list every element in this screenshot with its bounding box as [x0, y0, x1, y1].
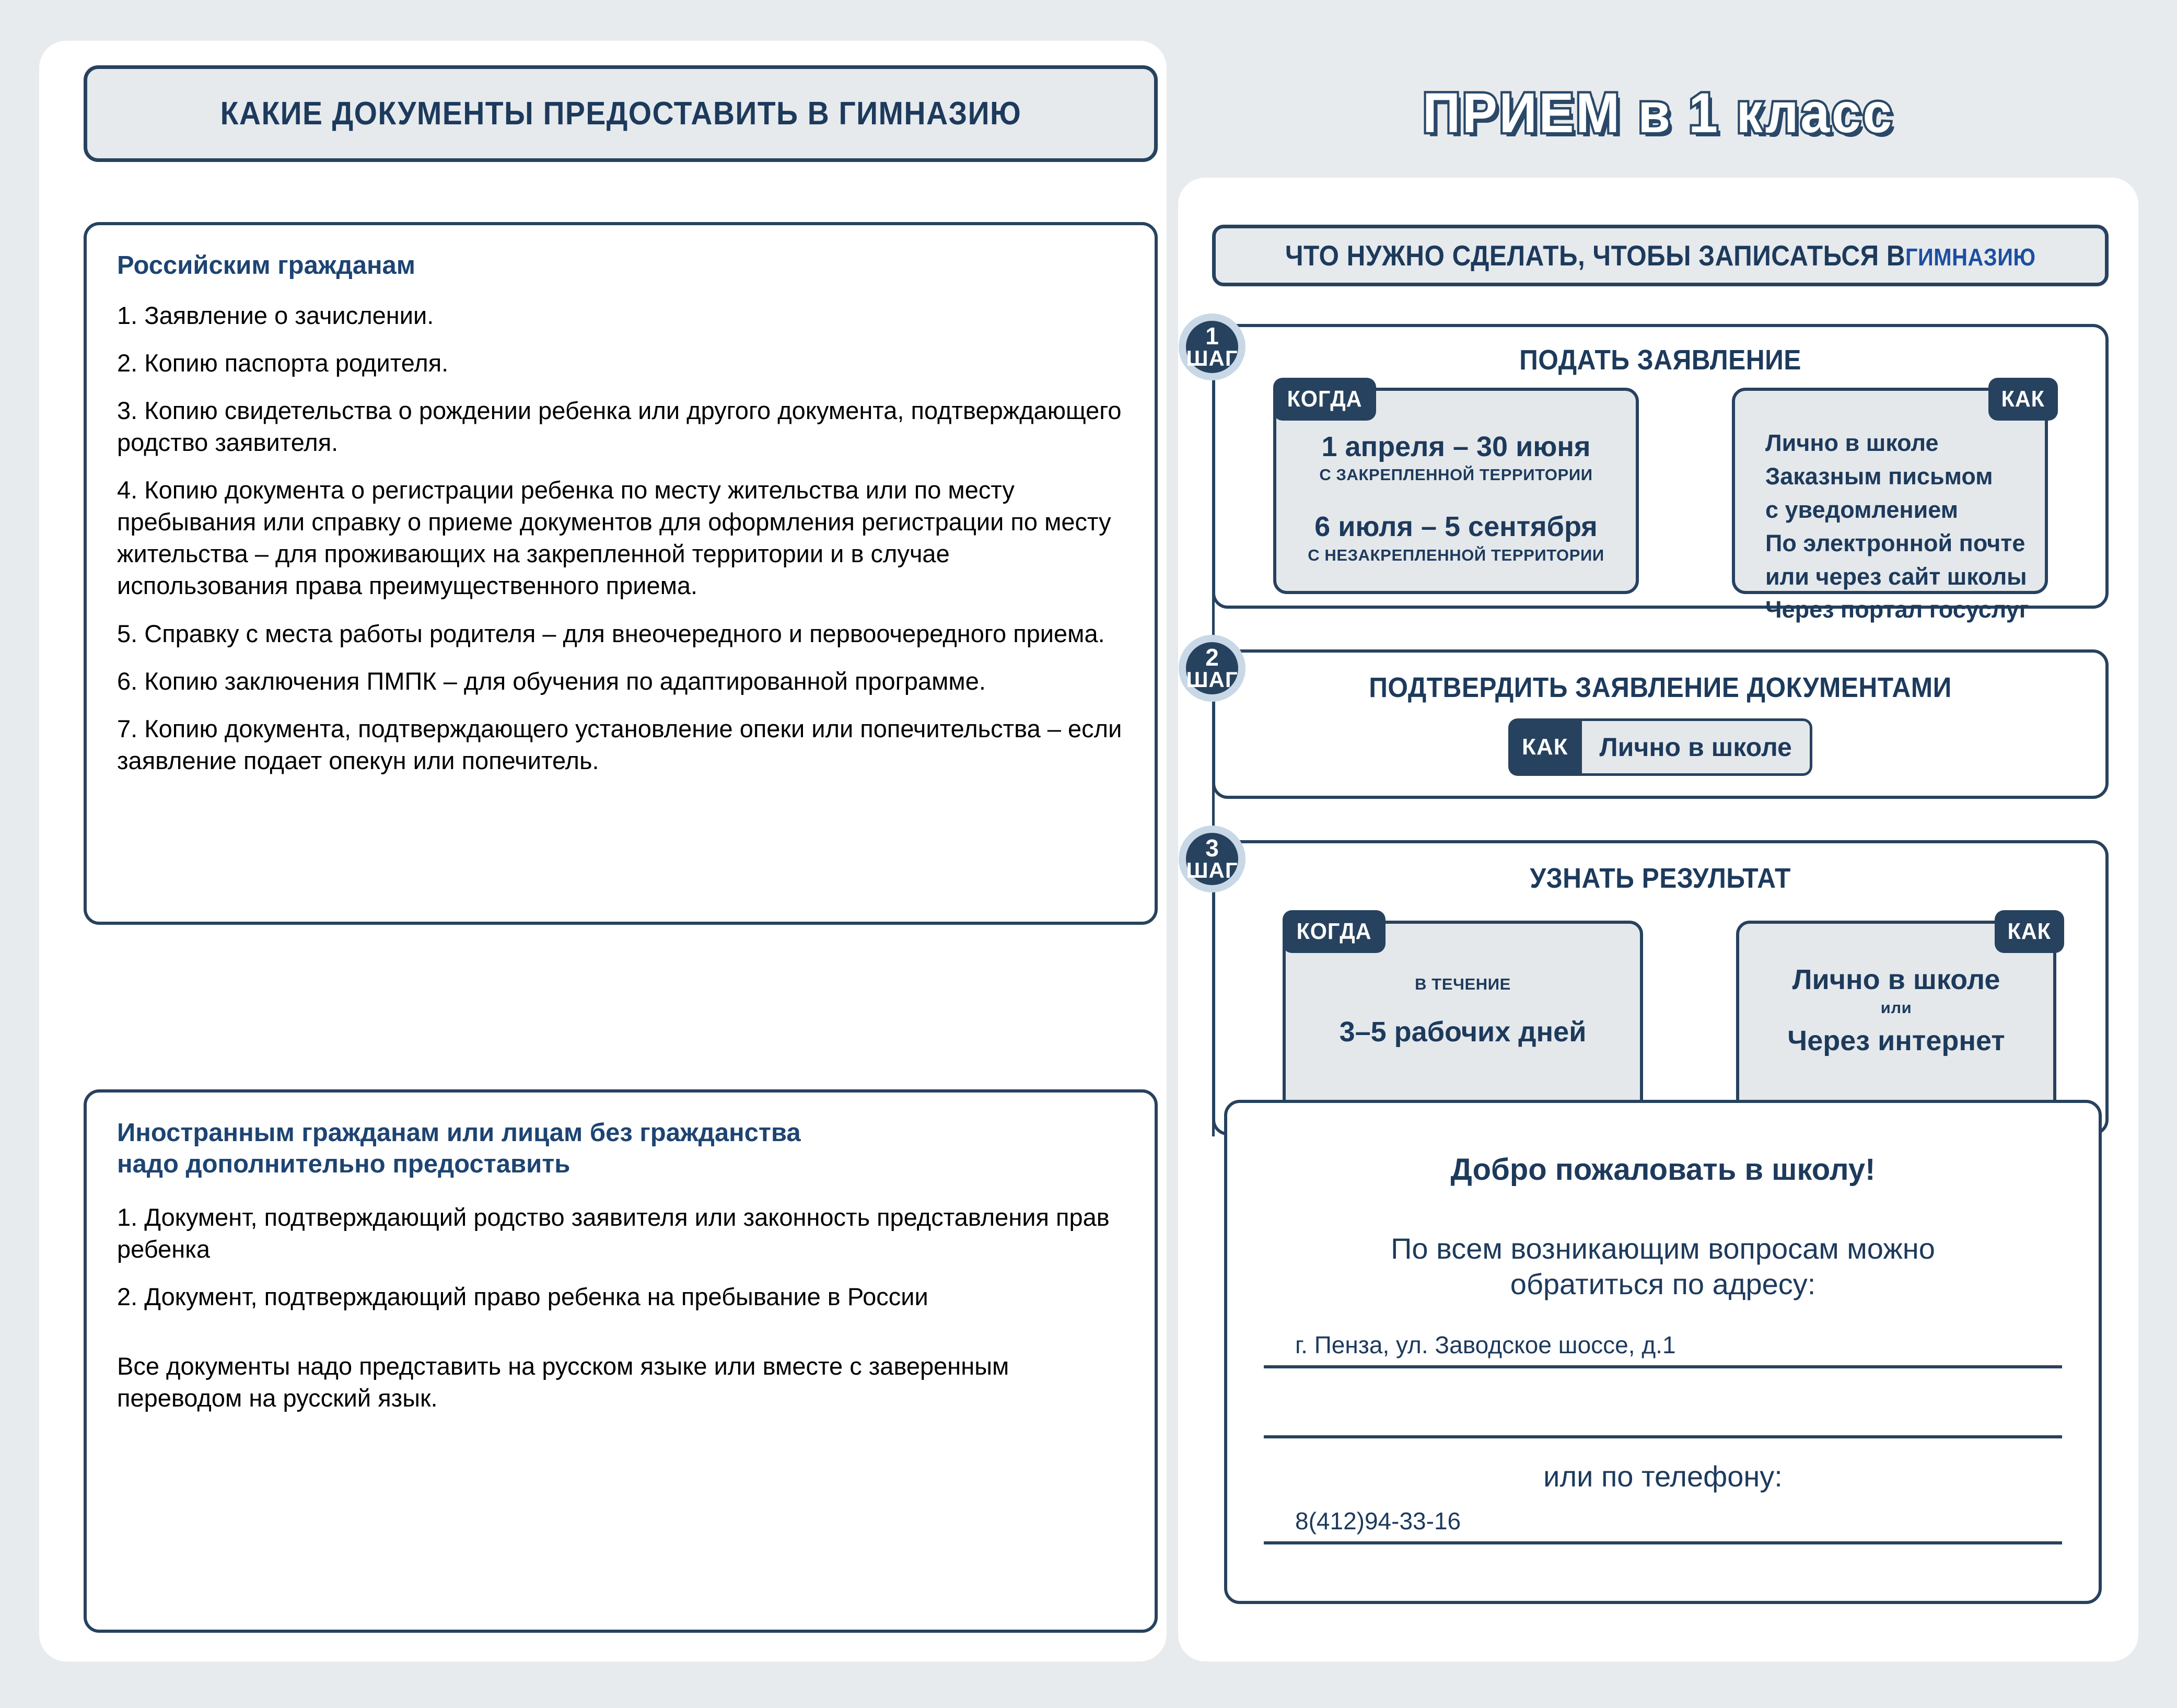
foreign-heading: Иностранным гражданам или лицам без граж…: [117, 1118, 1124, 1180]
foreign-heading-line2: надо дополнительно предоставить: [117, 1149, 1124, 1180]
step-1-how-line-4: По электронной почте: [1765, 527, 2045, 560]
contact-question: По всем возникающим вопросам можно обрат…: [1264, 1231, 2062, 1303]
step-3-word: ШАГ: [1186, 860, 1238, 881]
russian-item-4: 4. Копию документа о регистрации ребенка…: [117, 474, 1124, 601]
step-1-how-line-2: Заказным письмом: [1765, 460, 2045, 493]
contact-address-line2[interactable]: [1264, 1401, 2062, 1432]
foreign-heading-line1: Иностранным гражданам или лицам без граж…: [117, 1118, 1124, 1149]
step-1-title: ПОДАТЬ ЗАЯВЛЕНИЕ: [1251, 344, 2070, 376]
step-1-when-label-1: С ЗАКРЕПЛЕННОЙ ТЕРРИТОРИИ: [1276, 466, 1636, 484]
contact-or-phone: или по телефону:: [1264, 1459, 2062, 1493]
step-3-when-tab-label: КОГДА: [1297, 919, 1372, 945]
step-3-title: УЗНАТЬ РЕЗУЛЬТАТ: [1251, 862, 2070, 894]
step-1-how-tab-label: КАК: [2001, 386, 2045, 412]
documents-russian-card: Российским гражданам 1. Заявление о зачи…: [84, 222, 1158, 925]
step-1-when-tab-label: КОГДА: [1287, 386, 1363, 412]
todo-banner-main: ЧТО НУЖНО СДЕЛАТЬ, ЧТОБЫ ЗАПИСАТЬСЯ В: [1285, 239, 1905, 272]
russian-item-3: 3. Копию свидетельства о рождении ребенк…: [117, 394, 1124, 458]
step-1-how-tab: КАК: [1988, 378, 2058, 421]
step-3-badge: 3 ШАГ: [1179, 826, 1245, 892]
step-2-how-value-box: Лично в школе: [1582, 718, 1812, 776]
step-2-number: 2: [1205, 646, 1219, 669]
step-2-how-pill: КАК Лично в школе: [1508, 718, 1812, 776]
step-3-when-small: В ТЕЧЕНИЕ: [1286, 975, 1640, 994]
step-3-how-tab-label: КАК: [2008, 919, 2051, 945]
step-1-when-label-2: С НЕЗАКРЕПЛЕННОЙ ТЕРРИТОРИИ: [1276, 546, 1636, 565]
contact-address-rule-1: [1264, 1365, 2062, 1368]
step-1-badge: 1 ШАГ: [1179, 313, 1245, 380]
russian-item-6: 6. Копию заключения ПМПК – для обучения …: [117, 665, 1124, 697]
step-1-how-line-5: или через сайт школы: [1765, 560, 2045, 594]
contact-address-rule-2: [1264, 1435, 2062, 1438]
main-title: ПРИЕМ в 1 класс: [1178, 63, 2138, 162]
step1-connector: [1212, 361, 1215, 658]
contact-welcome: Добро пожаловать в школу!: [1264, 1152, 2062, 1187]
infographic-page: КАКИЕ ДОКУМЕНТЫ ПРЕДОСТАВИТЬ В ГИМНАЗИЮ …: [0, 0, 2177, 1708]
contact-phone[interactable]: 8(412)94-33-16: [1264, 1507, 2062, 1538]
step-3-how-big-1: Лично в школе: [1739, 965, 2053, 995]
step-1-number: 1: [1205, 325, 1219, 348]
russian-heading: Российским гражданам: [117, 250, 1124, 282]
russian-item-5: 5. Справку с места работы родителя – для…: [117, 618, 1124, 649]
left-header-title: КАКИЕ ДОКУМЕНТЫ ПРЕДОСТАВИТЬ В ГИМНАЗИЮ: [220, 95, 1021, 132]
step-1-how-line-3: с уведомлением: [1765, 493, 2045, 527]
step-3-number: 3: [1205, 837, 1219, 860]
step-1-when-date-2: 6 июля – 5 сентября: [1276, 512, 1636, 542]
step-1-when-date-1: 1 апреля – 30 июня: [1276, 432, 1636, 462]
step-2-how-value: Лично в школе: [1600, 732, 1792, 762]
russian-item-7: 7. Копию документа, подтверждающего уста…: [117, 713, 1124, 776]
left-header-banner: КАКИЕ ДОКУМЕНТЫ ПРЕДОСТАВИТЬ В ГИМНАЗИЮ: [84, 65, 1158, 162]
contact-question-line2: обратиться по адресу:: [1264, 1267, 2062, 1302]
step-3-how-tab: КАК: [1995, 910, 2064, 953]
contact-card: Добро пожаловать в школу! По всем возник…: [1224, 1100, 2102, 1604]
foreign-item-2: 2. Документ, подтверждающий право ребенк…: [117, 1281, 1124, 1312]
main-title-text: ПРИЕМ в 1 класс: [1423, 80, 1894, 145]
step-2-how-tab-label: КАК: [1522, 734, 1568, 760]
contact-question-line1: По всем возникающим вопросам можно: [1264, 1231, 2062, 1267]
russian-item-1: 1. Заявление о зачислении.: [117, 299, 1124, 331]
step-2-how-tab: КАК: [1508, 718, 1582, 776]
step-3-how-small: или: [1739, 998, 2053, 1017]
todo-banner-text: ЧТО НУЖНО СДЕЛАТЬ, ЧТОБЫ ЗАПИСАТЬСЯ ВГИМ…: [1285, 239, 2036, 272]
step-3-when-big: 3–5 рабочих дней: [1286, 1017, 1640, 1048]
documents-foreign-card: Иностранным гражданам или лицам без граж…: [84, 1089, 1158, 1633]
step-1-how-line-6: Через портал госуслуг: [1765, 593, 2045, 626]
russian-item-2: 2. Копию паспорта родителя.: [117, 347, 1124, 379]
step-1-when-tab: КОГДА: [1273, 378, 1376, 421]
step-3-how-big-2: Через интернет: [1739, 1026, 2053, 1056]
contact-address[interactable]: г. Пенза, ул. Заводское шоссе, д.1: [1264, 1331, 2062, 1362]
step-2-word: ШАГ: [1186, 669, 1238, 690]
foreign-note: Все документы надо представить на русско…: [117, 1350, 1124, 1414]
todo-banner-accent: ГИМНАЗИЮ: [1905, 243, 2035, 271]
foreign-item-1: 1. Документ, подтверждающий родство заяв…: [117, 1201, 1124, 1265]
step-3-when-tab: КОГДА: [1283, 910, 1386, 953]
step-1-how-line-1: Лично в школе: [1765, 426, 2045, 460]
step3-connector: [1212, 875, 1215, 1136]
todo-banner: ЧТО НУЖНО СДЕЛАТЬ, ЧТОБЫ ЗАПИСАТЬСЯ ВГИМ…: [1212, 225, 2109, 286]
step-1-word: ШАГ: [1186, 348, 1238, 369]
step-2-title: ПОДТВЕРДИТЬ ЗАЯВЛЕНИЕ ДОКУМЕНТАМИ: [1251, 671, 2070, 704]
step-2-badge: 2 ШАГ: [1179, 635, 1245, 702]
contact-phone-rule: [1264, 1541, 2062, 1544]
